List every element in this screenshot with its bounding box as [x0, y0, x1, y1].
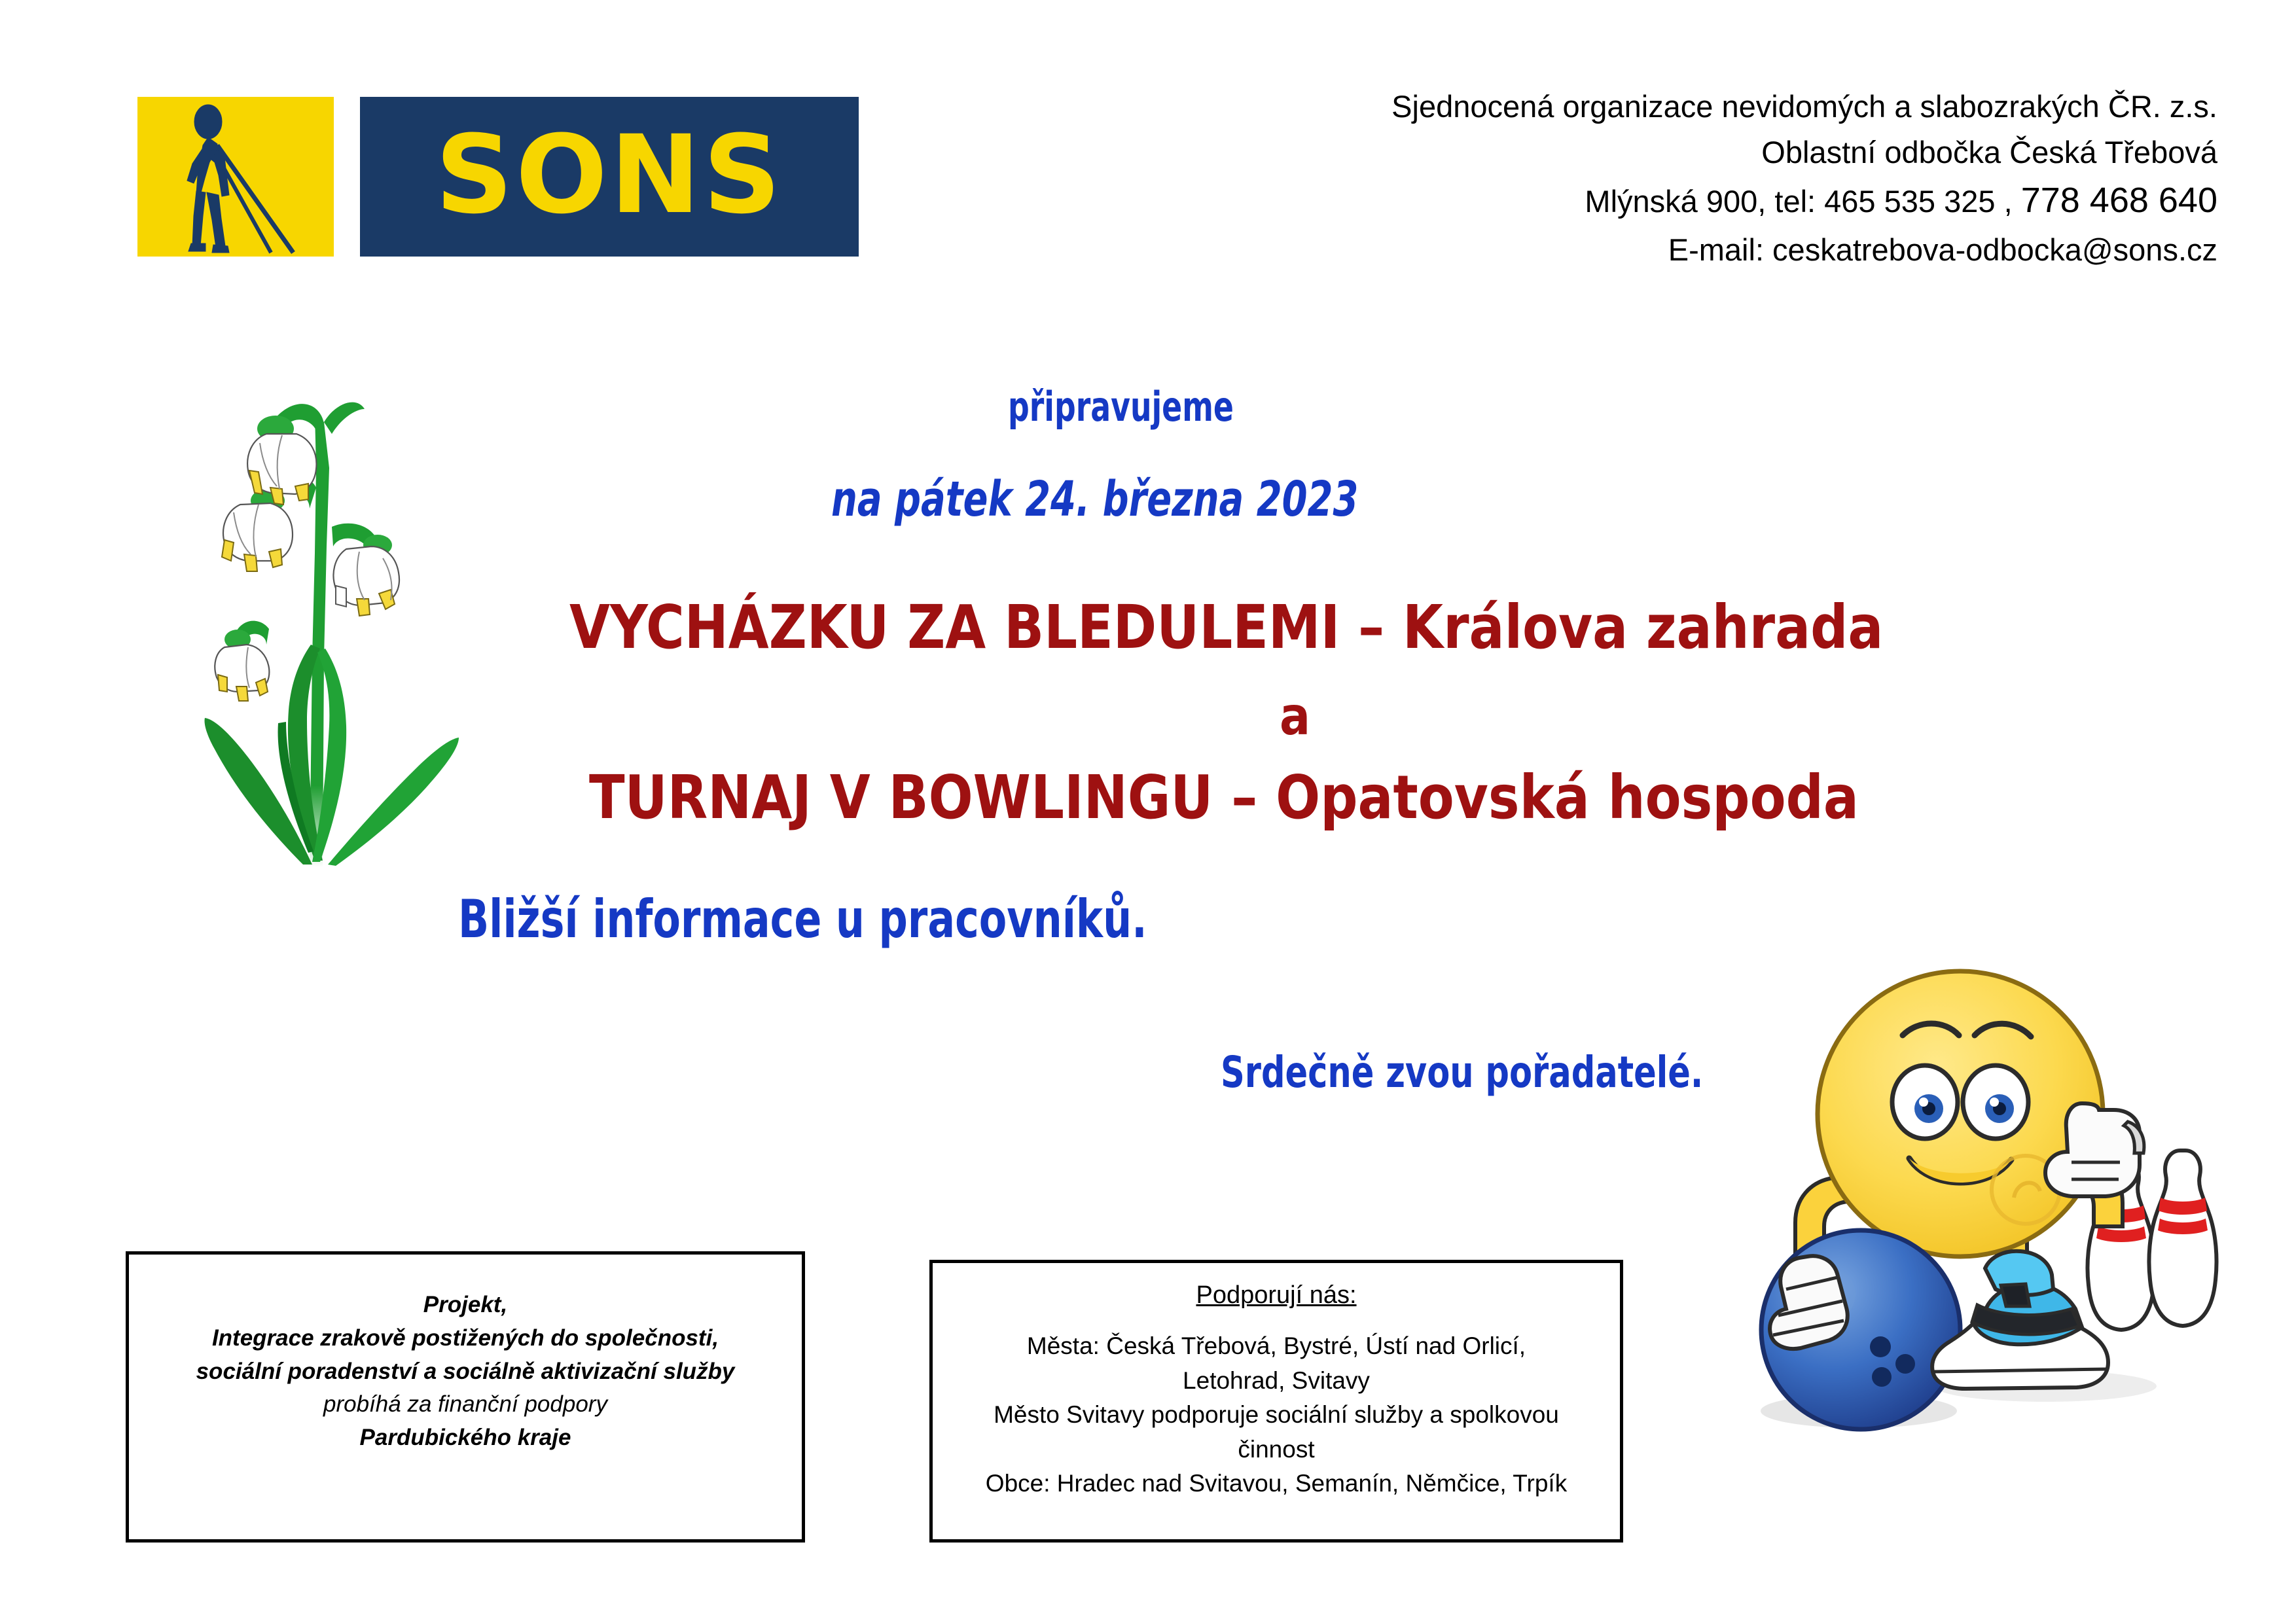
project-line: probíhá za finanční podpory — [151, 1388, 780, 1421]
event-connector: a — [1280, 686, 1310, 747]
sponsor-line: Města: Česká Třebová, Bystré, Ústí nad O… — [950, 1329, 1603, 1364]
sponsor-line: činnost — [950, 1433, 1603, 1467]
announcement-intro: připravujeme — [1008, 383, 1234, 431]
email-line: E-mail: ceskatrebova-odbocka@sons.cz — [1196, 227, 2217, 273]
blind-person-with-cane-icon — [137, 97, 334, 257]
more-info-text: Bližší informace u pracovníků. — [458, 889, 1147, 950]
project-line: Integrace zrakově postižených do společn… — [151, 1322, 780, 1355]
snowdrop-flower-illustration — [160, 383, 514, 880]
bowling-pin — [2149, 1150, 2216, 1326]
sons-logo: SONS — [137, 97, 859, 257]
project-funding-box: Projekt, Integrace zrakově postižených d… — [126, 1251, 805, 1543]
organization-contact-block: Sjednocená organizace nevidomých a slabo… — [1196, 84, 2217, 273]
address-phone-text: Mlýnská 900, tel: 465 535 325 , — [1585, 184, 2012, 219]
project-line: Projekt, — [151, 1289, 780, 1322]
sponsors-title: Podporují nás: — [950, 1281, 1603, 1310]
logo-wordmark: SONS — [360, 97, 859, 257]
project-line: Pardubického kraje — [151, 1421, 780, 1455]
snowdrop-bloom — [215, 645, 269, 701]
sponsor-line: Město Svitavy podporuje sociální služby … — [950, 1398, 1603, 1433]
sponsors-box: Podporují nás: Města: Česká Třebová, Bys… — [929, 1260, 1623, 1543]
org-name-line1: Sjednocená organizace nevidomých a slabo… — [1196, 84, 2217, 130]
sponsor-line: Obce: Hradec nad Svitavou, Semanín, Němč… — [950, 1467, 1603, 1501]
address-phone-line: Mlýnská 900, tel: 465 535 325 , 778 468 … — [1196, 175, 2217, 227]
event-title-walk: VYCHÁZKU ZA BLEDULEMI – Králova zahrada — [569, 592, 1883, 662]
mobile-phone-text: 778 468 640 — [2021, 181, 2217, 220]
mascot-face — [1818, 971, 2103, 1257]
org-branch-line: Oblastní odbočka Česká Třebová — [1196, 130, 2217, 175]
snowdrop-bloom — [222, 503, 293, 571]
announcement-date: na pátek 24. března 2023 — [831, 471, 1358, 527]
bowling-smiley-mascot-illustration — [1718, 962, 2235, 1479]
sponsor-line: Letohrad, Svitavy — [950, 1364, 1603, 1399]
project-line: sociální poradenství a sociálně aktiviza… — [151, 1355, 780, 1389]
closing-invitation-text: Srdečně zvou pořadatelé. — [1221, 1047, 1703, 1097]
snowdrop-bloom — [334, 546, 399, 616]
poster-page: SONS Sjednocená organizace nevidomých a … — [0, 0, 2296, 1623]
snowdrop-bloom — [247, 434, 316, 505]
event-title-bowling: TURNAJ V BOWLINGU – Opatovská hospoda — [589, 762, 1859, 832]
